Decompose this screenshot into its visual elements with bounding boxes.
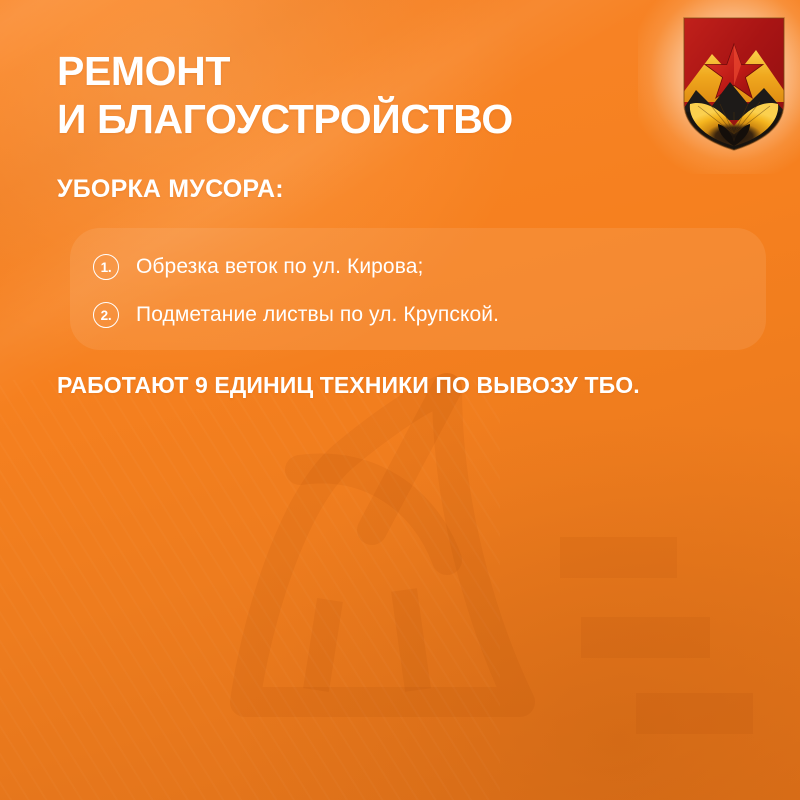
fine-hatch-streaks (0, 380, 500, 800)
motion-bar (636, 693, 753, 734)
broom-inner-arc-icon (300, 468, 447, 560)
list-number-badge: 2. (93, 302, 119, 328)
list-item-label: Подметание листвы по ул. Крупской. (136, 303, 499, 327)
coat-of-arms-shield-icon (682, 16, 786, 152)
coat-of-arms (660, 0, 800, 165)
background-glow-bottom-right (240, 420, 800, 800)
poster-canvas: РЕМОНТ И БЛАГОУСТРОЙСТВО УБОРКА МУСОРА: … (0, 0, 800, 800)
list-number-badge: 1. (93, 254, 119, 280)
broom-handle-icon (372, 388, 447, 530)
statement-text: РАБОТАЮТ 9 ЕДИНИЦ ТЕХНИКИ ПО ВЫВОЗУ ТБО. (57, 372, 640, 399)
list-item-label: Обрезка веток по ул. Кирова; (136, 255, 423, 279)
section-heading: УБОРКА МУСОРА: (57, 175, 284, 204)
motion-bar (560, 537, 677, 578)
title-line-2: И БЛАГОУСТРОЙСТВО (57, 96, 657, 144)
motion-bar (581, 617, 710, 658)
broom-bristle-lines (316, 590, 418, 690)
broom-head-icon (245, 388, 520, 702)
task-list: 1. Обрезка веток по ул. Кирова; 2. Подме… (93, 243, 753, 339)
list-item: 2. Подметание листвы по ул. Крупской. (93, 291, 753, 339)
motion-bars (560, 537, 753, 734)
title-line-1: РЕМОНТ (57, 48, 657, 96)
list-item: 1. Обрезка веток по ул. Кирова; (93, 243, 753, 291)
page-title: РЕМОНТ И БЛАГОУСТРОЙСТВО (57, 48, 657, 143)
